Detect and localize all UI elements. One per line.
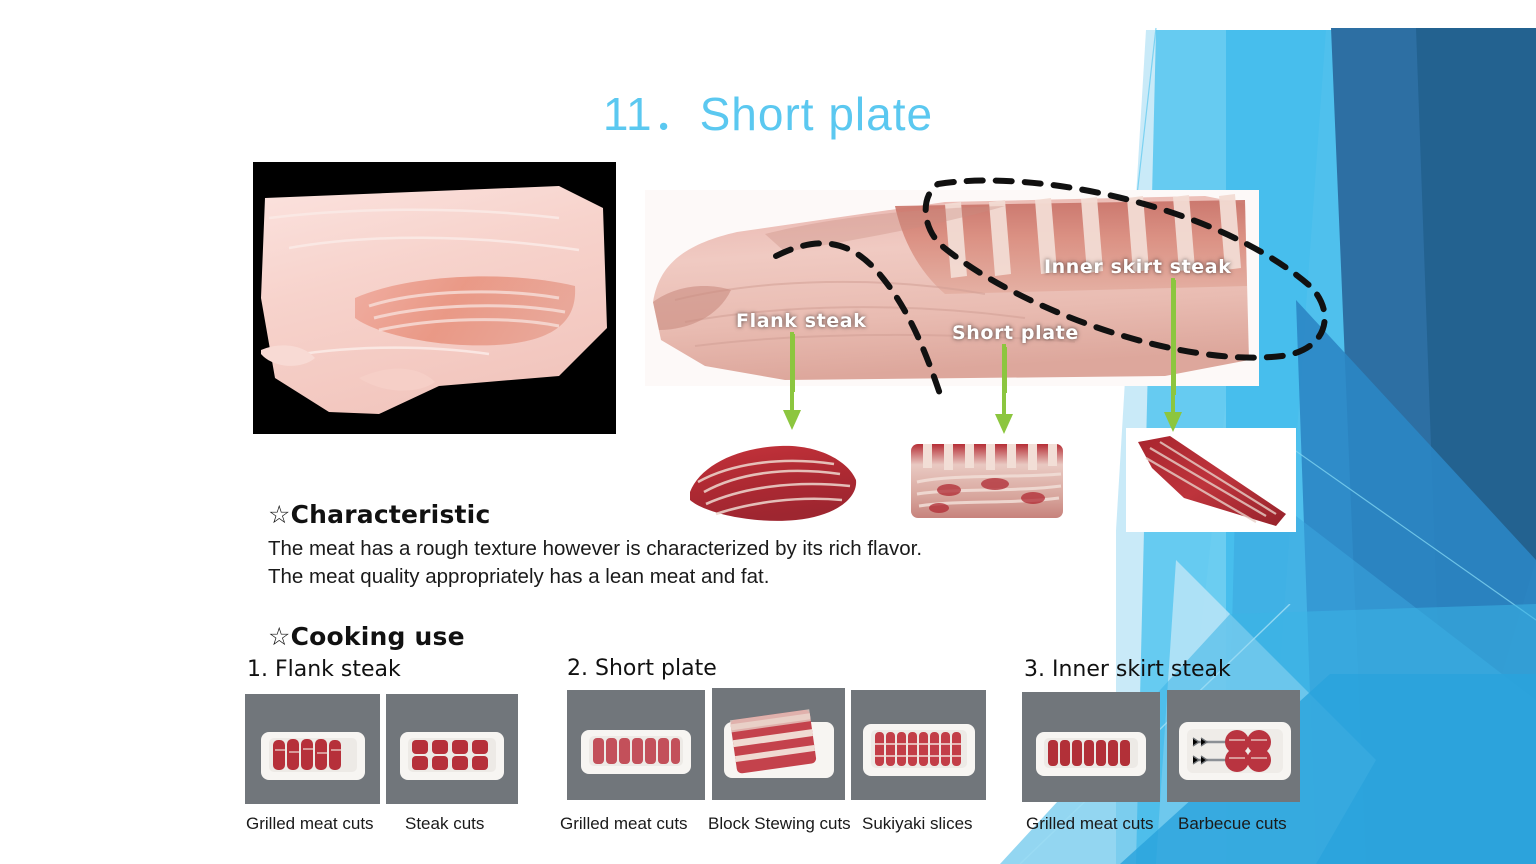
cooking-use-group-2-heading: 2. Short plate [567, 656, 717, 681]
label-short-plate: Short plate [952, 322, 1079, 344]
cooking-use-group-1-heading: 1. Flank steak [247, 657, 401, 682]
cooking-use-heading: ☆Cooking use [268, 622, 465, 651]
whole-cut-illustration [259, 178, 609, 418]
caption-grilled-meat-cuts-short-plate: Grilled meat cuts [560, 814, 688, 834]
photo-tray-sukiyaki-slices [851, 690, 986, 800]
photo-sample-short-plate [903, 432, 1071, 528]
flank-steak-illustration [676, 430, 866, 530]
arrow-down-short-plate-icon [992, 344, 1016, 436]
photo-sample-inner-skirt-steak [1126, 428, 1296, 532]
photo-tray-steak-cuts-flank [386, 694, 518, 804]
arrow-down-flank-icon [780, 332, 804, 432]
inner-skirt-steak-illustration [1126, 428, 1296, 532]
slide-canvas: 11．Short plate [0, 0, 1536, 864]
slide-title: 11．Short plate [0, 78, 1536, 144]
characteristic-body: The meat has a rough texture however is … [268, 535, 958, 591]
characteristic-heading: ☆Characteristic [268, 500, 490, 529]
arrow-down-inner-skirt-icon [1161, 278, 1185, 434]
photo-tray-grilled-meat-cuts-flank [245, 694, 380, 804]
photo-tray-block-stewing-cuts [712, 688, 845, 800]
label-inner-skirt-steak: Inner skirt steak [1044, 256, 1231, 278]
photo-tray-grilled-meat-cuts-short-plate [567, 690, 705, 800]
photo-tray-barbecue-cuts [1167, 690, 1300, 802]
photo-whole-short-plate [253, 162, 616, 434]
caption-steak-cuts-flank: Steak cuts [405, 814, 484, 834]
photo-tray-grilled-meat-cuts-inner-skirt [1022, 692, 1160, 802]
photo-sample-flank-steak [676, 430, 866, 530]
caption-grilled-meat-cuts-inner-skirt: Grilled meat cuts [1026, 814, 1154, 834]
caption-block-stewing-cuts: Block Stewing cuts [708, 814, 851, 834]
label-flank-steak: Flank steak [736, 310, 866, 332]
cooking-use-group-3-heading: 3. Inner skirt steak [1024, 657, 1231, 682]
caption-grilled-meat-cuts-flank: Grilled meat cuts [246, 814, 374, 834]
short-plate-illustration [903, 432, 1071, 528]
caption-sukiyaki-slices: Sukiyaki slices [862, 814, 973, 834]
caption-barbecue-cuts: Barbecue cuts [1178, 814, 1287, 834]
